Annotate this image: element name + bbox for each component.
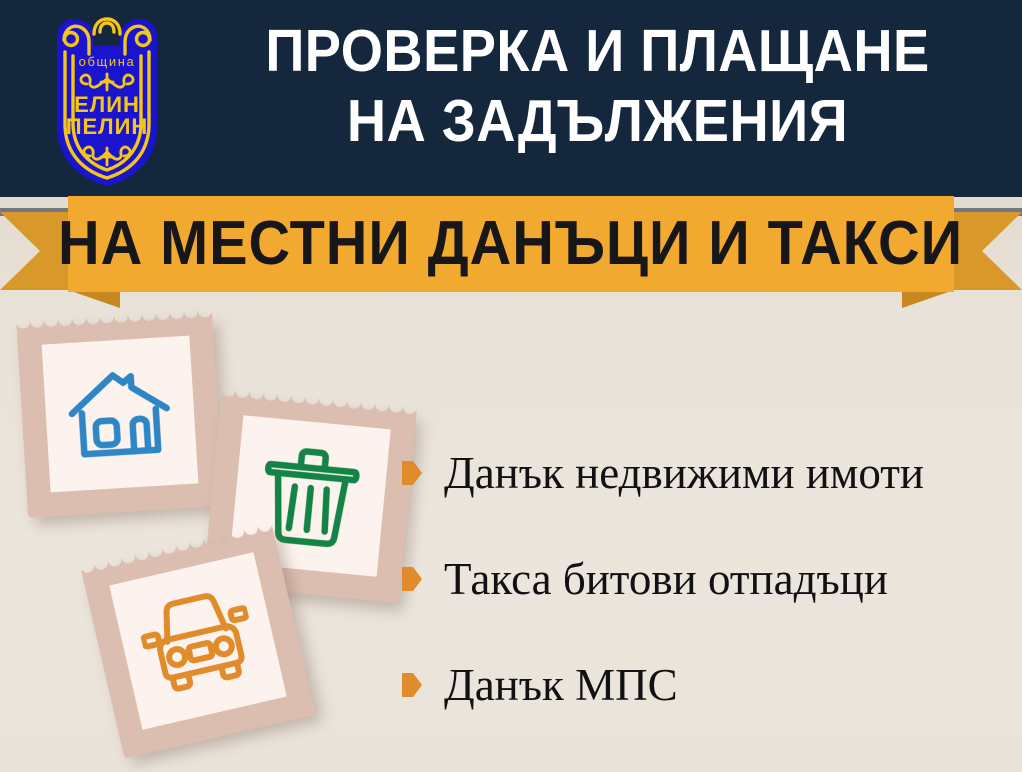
stamp-scallop-notch [299,672,315,688]
list-item[interactable]: Данък недвижими имоти [402,420,1012,526]
stamp-scallop-notch [12,364,26,378]
stamp-scallop-notch [147,542,163,558]
arrow-bullet-icon [402,673,422,697]
stamp-scallop-notch [305,390,319,404]
stamp-scallop-notch [347,394,361,408]
stamp-scallop-notch [164,739,180,755]
stamp-scallop-notch [249,385,263,399]
stamp-scallop-notch [291,389,305,403]
stamp-scallop-notch [287,618,303,634]
stamp-scallop-notch [111,730,127,746]
house-icon [63,361,177,467]
ribbon-fold-left [68,290,120,308]
stamp-scallop-notch [370,593,384,607]
stamp-scallop-notch [328,589,342,603]
stamp-scallop-notch [181,501,195,515]
stamp-scallop-notch [277,387,291,401]
stamp-scallop-notch [17,448,31,462]
ribbon-fold-right [902,290,954,308]
tax-type-list: Данък недвижими имоти Такса битови отпад… [402,420,1012,738]
stamp-house [16,310,224,518]
stamp-scallop-notch [205,730,221,746]
stamp-scallop-notch [80,593,96,609]
stamp-scallop-notch [300,587,314,601]
stamp-scallop-notch [142,307,156,321]
stamp-scallop-notch [128,308,142,322]
list-item-label: Данък недвижими имоти [444,449,924,497]
stamp-scallop-notch [161,539,177,555]
stamp-scallop-notch [206,324,220,338]
stamp-scallop-notch [93,648,109,664]
stamp-scallop-notch [263,386,277,400]
stamp-scallop-notch [84,507,98,521]
stamp-face [42,336,199,493]
stamp-scallop-notch [19,489,33,503]
stamp-scallop-notch [207,352,221,366]
stamp-scallop-notch [361,396,375,410]
stamp-scallop-notch [99,675,115,691]
stamp-scallop-notch [287,711,303,727]
list-item-label: Данък МПС [444,661,678,709]
stamp-scallop-notch [126,504,140,518]
stamp-scallop-notch [284,604,300,620]
stamp-scallop-notch [356,592,370,606]
stamp-scallop-notch [16,434,30,448]
arrow-bullet-icon [402,461,422,485]
stamp-scallop-notch [246,720,262,736]
stamp-scallop-notch [13,392,27,406]
stamp-scallop-notch [188,533,204,549]
stamp-scallop-notch [232,724,248,740]
stamp-scallop-notch [191,733,207,749]
stamp-scallop-notch [70,507,84,521]
stamp-scallop-notch [30,314,44,328]
stamp-scallop-notch [296,659,312,675]
stamp-scallop-notch [10,336,24,350]
stamp-scallop-notch [314,588,328,602]
stamp-scallop-notch [167,501,181,515]
coat-of-arms-icon: община ЕЛИН ПЕЛИН [32,6,182,191]
stamp-scallop-notch [93,555,109,571]
stamp-scallop-notch [342,591,356,605]
stamp-scallop-notch [333,393,347,407]
list-item-label: Такса битови отпадъци [444,555,888,603]
stamp-scallop-notch [273,714,289,730]
stamp-scallop-notch [208,366,222,380]
list-item[interactable]: Такса битови отпадъци [402,526,1012,632]
arrow-bullet-icon [402,567,422,591]
stamp-scallop-notch [375,397,389,411]
stamp-scallop-notch [77,580,93,596]
stamp-scallop-notch [235,383,249,397]
stamp-scallop-notch [44,313,58,327]
stamp-scallop-notch [154,502,168,516]
ribbon-label: НА МЕСТНИ ДАНЪЦИ И ТАКСИ [59,213,964,275]
crest-line-2: ПЕЛИН [66,114,149,139]
stamp-scallop-notch [18,462,32,476]
stamp-scallop-notch [174,536,190,552]
stamp-scallop-notch [100,309,114,323]
car-icon [134,584,262,698]
stamp-scallop-notch [108,716,124,732]
stamp-scallop-notch [114,308,128,322]
stamp-scallop-notch [86,310,100,324]
stamp-scallop-notch [133,545,149,561]
stamp-scallop-notch [137,746,153,762]
stamp-scallop-notch [302,686,318,702]
ribbon-banner: НА МЕСТНИ ДАНЪЦИ И ТАКСИ [0,196,1022,308]
stamp-scallop-notch [105,703,121,719]
stamp-scallop-notch [293,645,309,661]
stamp-scallop-notch [202,514,216,528]
header-bar: община ЕЛИН ПЕЛИН ПРОВЕРКА И ПЛАЩАНЕ Н [0,0,1022,197]
stamp-scallop-notch [140,503,154,517]
stamp-scallop-notch [56,508,70,522]
list-item[interactable]: Данък МПС [402,632,1012,738]
stamp-scallop-notch [120,548,136,564]
stamp-scallop-notch [195,500,209,514]
stamp-scallop-notch [19,476,33,490]
poster-canvas: община ЕЛИН ПЕЛИН ПРОВЕРКА И ПЛАЩАНЕ Н [0,0,1022,772]
stamp-scallop-notch [290,631,306,647]
stamp-scallop-notch [42,509,56,523]
page-title: ПРОВЕРКА И ПЛАЩАНЕ НА ЗАДЪЛЖЕНИЯ [223,16,973,156]
ribbon-face: НА МЕСТНИ ДАНЪЦИ И ТАКСИ [68,196,954,292]
stamp-scallop-notch [150,742,166,758]
stamp-scallop-notch [259,717,275,733]
stamp-scallop-notch [98,506,112,520]
stamp-scallop-notch [15,420,29,434]
stamp-scallop-notch [388,398,402,412]
stamp-scallop-notch [319,391,333,405]
stamp-scallop-notch [112,505,126,519]
stamp-scallop-notch [218,727,234,743]
stamp-scallop-notch [14,406,28,420]
stamp-scallop-notch [13,378,27,392]
stamp-scallop-notch [178,736,194,752]
stamp-scallop-notch [9,322,23,336]
stamp-scallop-notch [72,311,86,325]
stamp-scallop-notch [86,621,102,637]
stamp-scallop-notch [96,662,112,678]
stamp-scallop-notch [89,634,105,650]
stamp-scallop-notch [106,552,122,568]
stamp-scallop-notch [58,312,72,326]
crest-small-label: община [79,54,136,69]
stamp-scallop-notch [207,338,221,352]
stamp-scallop-notch [11,350,25,364]
stamp-scallop-notch [83,607,99,623]
stamp-scallop-notch [102,689,118,705]
